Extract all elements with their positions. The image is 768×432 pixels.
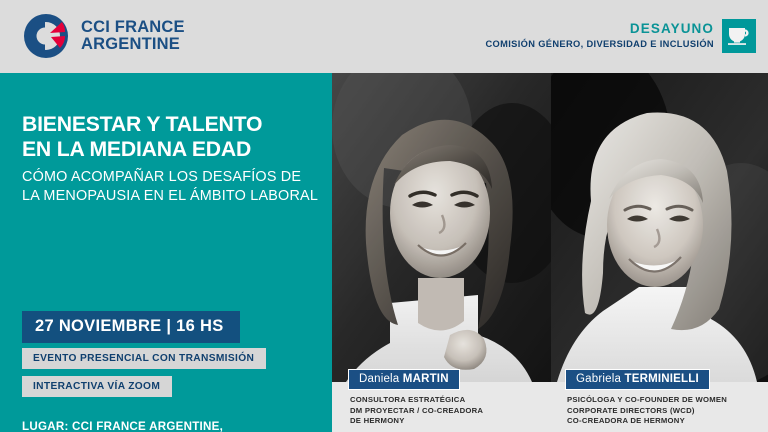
speaker-role-1: CONSULTORA ESTRATÉGICA DM PROYECTAR / CO… [350,395,483,427]
speaker-role-2: PSICÓLOGA Y CO-FOUNDER DE WOMEN CORPORAT… [567,395,727,427]
logo-line-1: CCI FRANCE [81,18,185,36]
speaker-name-badge-1: Daniela MARTIN [348,369,460,390]
venue-block: LUGAR: CCI FRANCE ARGENTINE, LIBERTADOR … [22,419,223,432]
speaker-name-badge-2: Gabriela TERMINIELLI [565,369,710,390]
header-commission-block: DESAYUNO COMISIÓN GÉNERO, DIVERSIDAD E I… [485,19,756,53]
speaker-role-1-line-2: DM PROYECTAR / CO-CREADORA [350,406,483,417]
speaker-role-2-line-3: CO-CREADORA DE HERMONY [567,416,727,427]
speaker-family-name-1: MARTIN [403,373,449,385]
commission-name: COMISIÓN GÉNERO, DIVERSIDAD E INCLUSIÓN [485,38,714,51]
subtitle-line-2: LA MENOPAUSIA EN EL ÁMBITO LABORAL [22,187,322,206]
brand-logo: CCI FRANCE ARGENTINE [20,11,185,61]
speaker-role-1-line-1: CONSULTORA ESTRATÉGICA [350,395,483,406]
speaker-photo-gabriela-terminielli [551,73,768,382]
speaker-role-2-line-2: CORPORATE DIRECTORS (WCD) [567,406,727,417]
speaker-photo-daniela-martin [332,73,551,382]
logo-line-2: ARGENTINE [81,36,185,53]
title-line-2: EN LA MEDIANA EDAD [22,137,322,162]
speaker-caption-2: Gabriela TERMINIELLI PSICÓLOGA Y CO-FOUN… [565,369,727,427]
speaker-role-1-line-3: DE HERMONY [350,416,483,427]
cci-france-argentine-logo-icon [20,11,72,61]
event-type-eyebrow: DESAYUNO [485,21,714,37]
format-badge-line-2: INTERACTIVA VÍA ZOOM [22,376,172,397]
format-badge-line-1: EVENTO PRESENCIAL CON TRANSMISIÓN [22,348,266,369]
coffee-cup-badge [722,19,756,53]
date-time-badge: 27 NOVIEMBRE | 16 HS [22,311,240,343]
header-bar: CCI FRANCE ARGENTINE DESAYUNO COMISIÓN G… [0,0,768,73]
speaker-family-name-2: TERMINIELLI [624,373,698,385]
brand-logo-text: CCI FRANCE ARGENTINE [81,19,185,53]
coffee-cup-icon [727,26,751,46]
title-line-1: BIENESTAR Y TALENTO [22,112,322,137]
speaker-given-name-1: Daniela [359,373,403,385]
venue-line-1: LUGAR: CCI FRANCE ARGENTINE, [22,419,223,432]
speaker-role-2-line-1: PSICÓLOGA Y CO-FOUNDER DE WOMEN [567,395,727,406]
commission-text: DESAYUNO COMISIÓN GÉNERO, DIVERSIDAD E I… [485,21,714,51]
subtitle-line-1: CÓMO ACOMPAÑAR LOS DESAFÍOS DE [22,168,322,187]
speaker-caption-1: Daniela MARTIN CONSULTORA ESTRATÉGICA DM… [348,369,483,427]
event-flyer: CCI FRANCE ARGENTINE DESAYUNO COMISIÓN G… [0,0,768,432]
headline-block: BIENESTAR Y TALENTO EN LA MEDIANA EDAD C… [22,112,322,205]
speaker-given-name-2: Gabriela [576,373,624,385]
info-panel: BIENESTAR Y TALENTO EN LA MEDIANA EDAD C… [0,73,332,432]
